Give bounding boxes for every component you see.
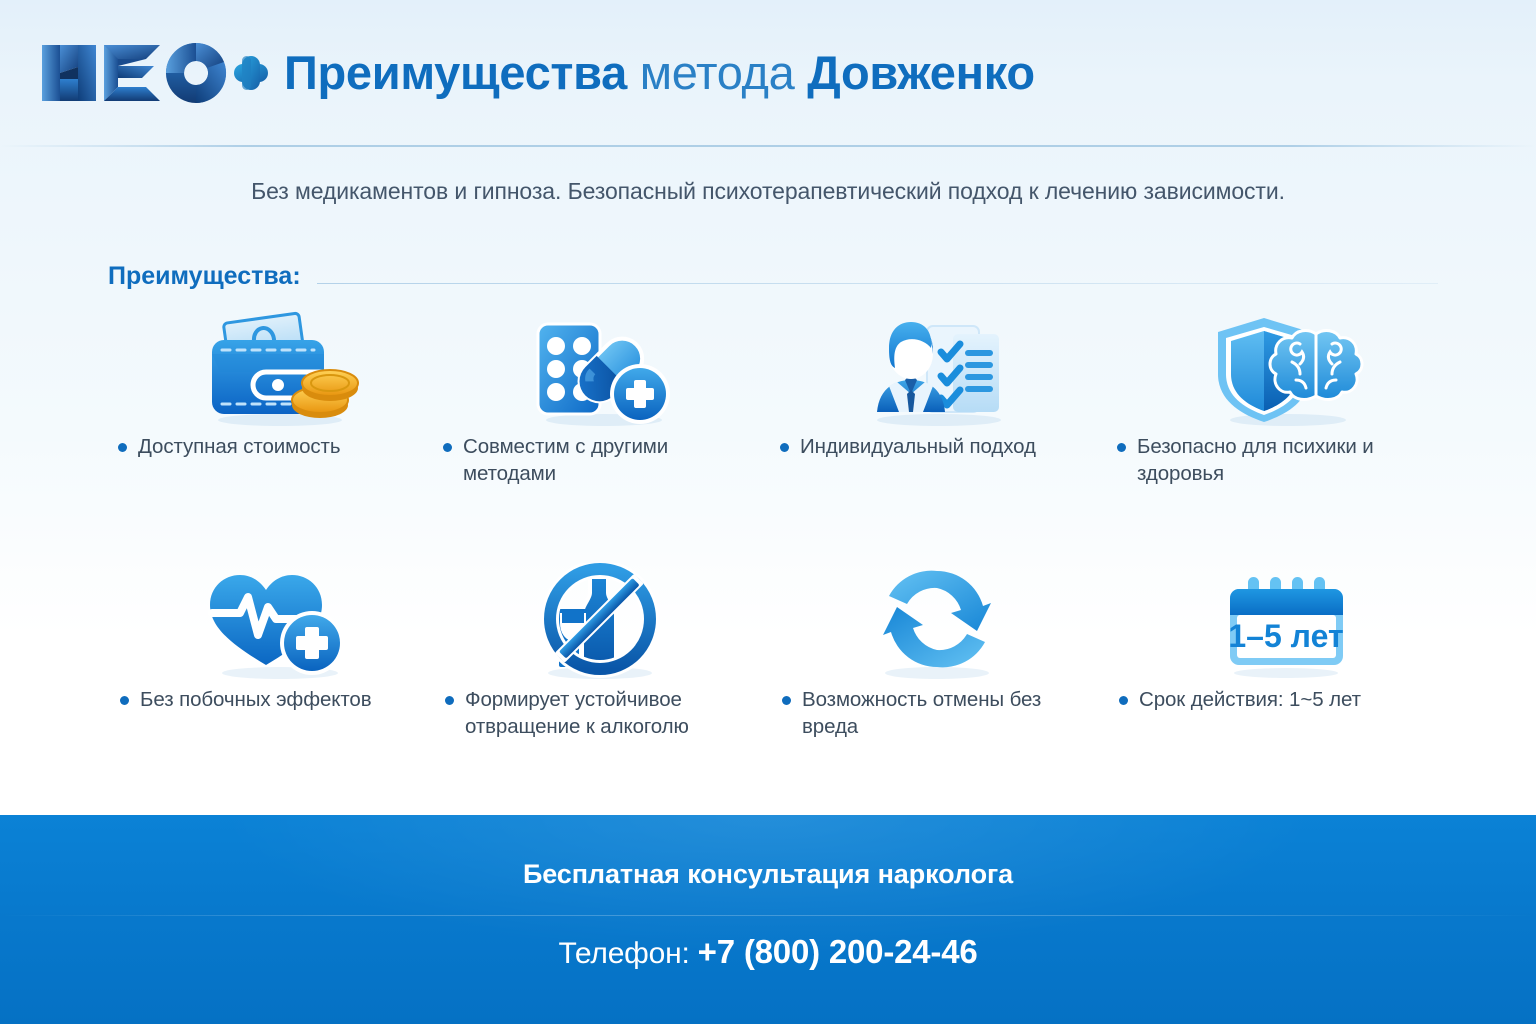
doctor-checklist-icon	[770, 305, 1105, 433]
bullet-icon	[120, 696, 129, 705]
benefit-label: Без побочных эффектов	[140, 686, 372, 713]
shield-brain-icon	[1105, 305, 1440, 433]
logo-letter-o	[166, 43, 226, 103]
neo-plus-logo	[38, 37, 270, 109]
benefit-label: Доступная стоимость	[138, 433, 340, 460]
heart-pulse-plus-icon	[100, 558, 435, 686]
benefit-label: Индивидуальный подход	[800, 433, 1036, 460]
footer-divider	[0, 915, 1536, 916]
subtitle: Без медикаментов и гипноза. Безопасный п…	[0, 178, 1536, 205]
header: Преимущества метода Довженко	[0, 0, 1536, 146]
phone-number[interactable]: +7 (800) 200-24-46	[698, 933, 978, 970]
bullet-icon	[445, 696, 454, 705]
calendar-text: 1–5 лет	[1228, 618, 1343, 654]
wallet-coins-icon	[100, 305, 435, 433]
title-part-1: Преимущества	[284, 46, 627, 99]
benefit-item: Безопасно для психики и здоровья	[1105, 305, 1440, 520]
pills-blister-plus-icon	[435, 305, 770, 433]
benefit-label: Срок действия: 1~5 лет	[1139, 686, 1361, 713]
benefit-item: Формирует устойчивое отвращение к алкого…	[435, 558, 770, 773]
refresh-arrows-icon	[770, 558, 1105, 686]
bullet-icon	[118, 443, 127, 452]
section-title: Преимущества:	[108, 262, 301, 291]
footer-phone: Телефон:+7 (800) 200-24-46	[0, 933, 1536, 971]
benefits-grid: Доступная стоимость	[100, 305, 1440, 773]
bullet-icon	[1119, 696, 1128, 705]
footer-sheen	[0, 815, 1536, 1024]
benefit-item: Доступная стоимость	[100, 305, 435, 520]
benefit-item: Возможность отмены без вреда	[770, 558, 1105, 773]
benefit-label: Совместим с другими методами	[463, 433, 764, 488]
header-divider	[0, 145, 1536, 147]
title-part-2: метода	[640, 46, 795, 99]
bullet-icon	[780, 443, 789, 452]
benefit-item: Без побочных эффектов	[100, 558, 435, 773]
section-header: Преимущества:	[108, 262, 1438, 291]
title-part-3: Довженко	[807, 46, 1034, 99]
phone-label: Телефон:	[558, 937, 689, 970]
bullet-icon	[782, 696, 791, 705]
logo-plus-icon	[234, 56, 268, 90]
benefit-label: Безопасно для психики и здоровья	[1137, 433, 1434, 488]
benefit-item: Совместим с другими методами	[435, 305, 770, 520]
footer-title: Бесплатная консультация нарколога	[0, 859, 1536, 890]
bullet-icon	[1117, 443, 1126, 452]
benefit-item: Индивидуальный подход	[770, 305, 1105, 520]
section-divider	[317, 283, 1438, 284]
benefit-label: Формирует устойчивое отвращение к алкого…	[465, 686, 764, 741]
benefit-label: Возможность отмены без вреда	[802, 686, 1099, 741]
logo-letter-e	[104, 45, 160, 101]
benefit-item: 1–5 лет Срок действия: 1~5 лет	[1105, 558, 1440, 773]
no-alcohol-icon	[435, 558, 770, 686]
page-title: Преимущества метода Довженко	[284, 48, 1035, 97]
logo-letter-h	[42, 45, 96, 101]
footer-cta: Бесплатная консультация нарколога Телефо…	[0, 815, 1536, 1024]
infographic-poster: Преимущества метода Довженко Без медикам…	[0, 0, 1536, 1024]
calendar-icon: 1–5 лет	[1105, 558, 1440, 686]
bullet-icon	[443, 443, 452, 452]
